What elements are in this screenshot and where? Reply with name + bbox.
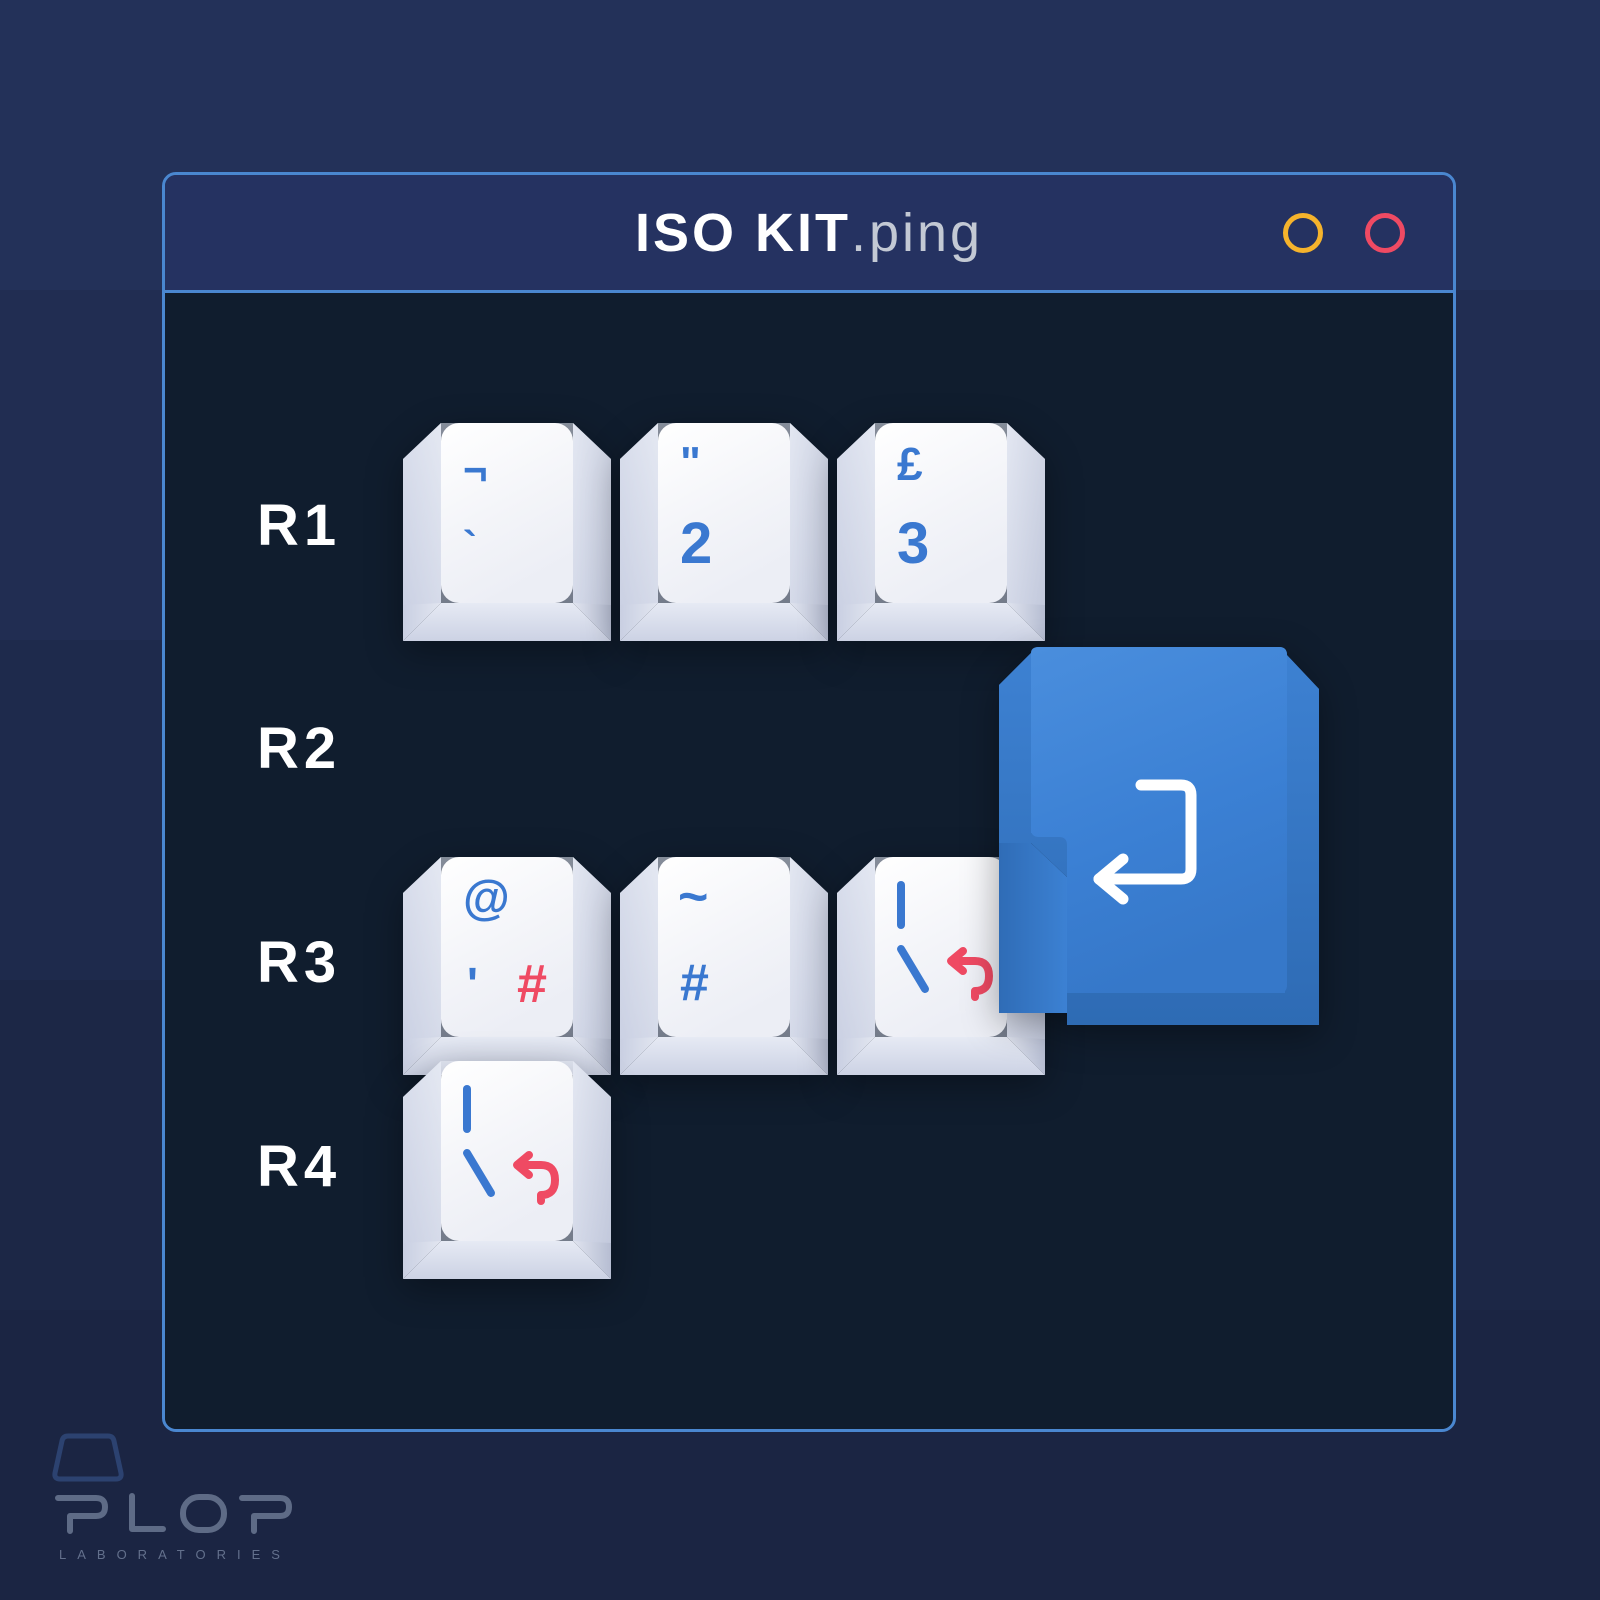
row-label-r2: R2 <box>257 715 341 782</box>
keycap-iso-enter[interactable] <box>995 633 1325 1065</box>
close-button[interactable] <box>1365 213 1405 253</box>
window-titlebar[interactable]: ISO KIT.ping <box>165 175 1453 293</box>
minimize-button[interactable] <box>1283 213 1323 253</box>
window-title: ISO KIT.ping <box>635 202 983 264</box>
keycap-r1-3[interactable]: £ 3 <box>835 415 1049 653</box>
row-label-r4: R4 <box>257 1133 341 1200</box>
plop-laboratories-watermark: LABORATORIES <box>52 1430 302 1562</box>
row-label-r1: R1 <box>257 492 341 559</box>
row-label-r3: R3 <box>257 929 341 996</box>
keycap-canvas: R1 R2 R3 R4 <box>165 293 1453 1429</box>
keycap-r1-2[interactable]: " 2 <box>618 415 832 653</box>
keycap-r1-grave[interactable]: ¬ ` <box>401 415 615 653</box>
window-title-extension: .ping <box>851 203 983 263</box>
app-window: ISO KIT.ping R1 R2 R3 R4 <box>162 172 1456 1432</box>
plop-logo-icon <box>52 1430 302 1538</box>
keycap-r4-pipe[interactable] <box>401 1053 615 1291</box>
keycap-r3-tilde[interactable]: ~ # <box>618 849 832 1087</box>
watermark-subtitle: LABORATORIES <box>52 1547 302 1562</box>
window-title-main: ISO KIT <box>635 203 851 263</box>
window-controls <box>1283 213 1405 253</box>
keycap-r3-at[interactable]: @ ' # <box>401 849 615 1087</box>
